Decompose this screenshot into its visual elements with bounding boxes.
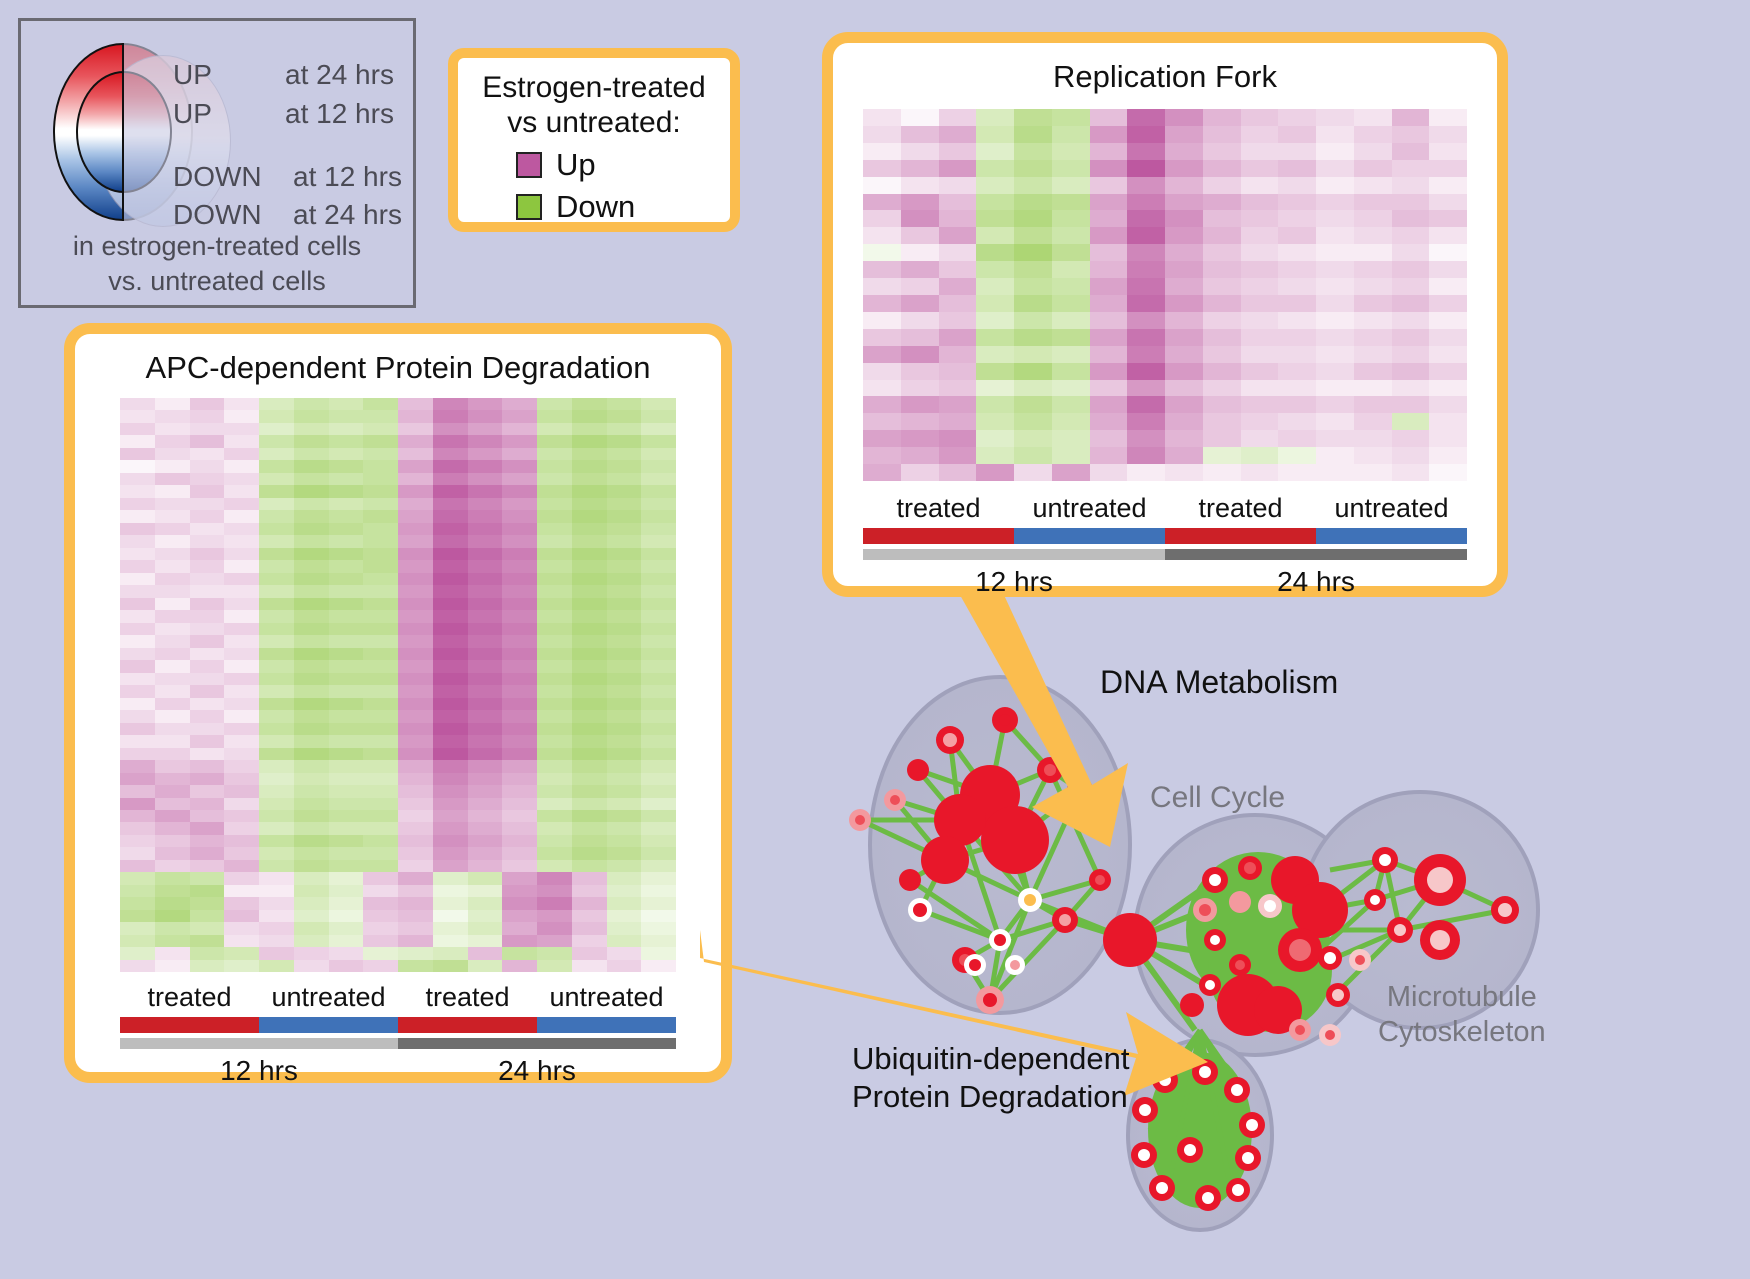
heatmap-cell: [294, 822, 329, 834]
heatmap-cell: [398, 760, 433, 772]
heatmap-cell: [901, 380, 939, 397]
heatmap-cell: [939, 109, 977, 126]
heatmap-row: [120, 523, 676, 535]
heatmap-cell: [190, 623, 225, 635]
heatmap-cell: [120, 510, 155, 522]
heatmap-cell: [468, 760, 503, 772]
heatmap-cell: [190, 510, 225, 522]
heatmap-row: [120, 648, 676, 660]
heatmap-cell: [155, 773, 190, 785]
heatmap-cell: [294, 510, 329, 522]
heatmap-cell: [329, 810, 364, 822]
heatmap-cell: [155, 835, 190, 847]
heatmap-cell: [433, 710, 468, 722]
heatmap-cell: [224, 935, 259, 947]
heatmap-cell: [224, 423, 259, 435]
legend-key-up: Up: [516, 147, 730, 183]
heatmap-row: [120, 635, 676, 647]
heatmap-cell: [259, 960, 294, 972]
time-bar-segment: [863, 549, 1165, 560]
heatmap-cell: [398, 448, 433, 460]
heatmap-cell: [363, 460, 398, 472]
heatmap-cell: [1392, 346, 1430, 363]
heatmap-cell: [863, 447, 901, 464]
heatmap-cell: [190, 635, 225, 647]
heatmap-cell: [294, 448, 329, 460]
heatmap-row: [120, 548, 676, 560]
heatmap-cell: [572, 585, 607, 597]
heatmap-cell: [1429, 244, 1467, 261]
heatmap-cell: [398, 673, 433, 685]
heatmap-row: [120, 423, 676, 435]
heatmap-cell: [572, 698, 607, 710]
heatmap-cell: [329, 685, 364, 697]
heatmap-cell: [329, 922, 364, 934]
heatmap-cell: [1165, 346, 1203, 363]
heatmap-cell: [1127, 227, 1165, 244]
heatmap-cell: [1429, 295, 1467, 312]
heatmap-cell: [572, 822, 607, 834]
heatmap-cell: [433, 485, 468, 497]
heatmap-cell: [1354, 396, 1392, 413]
heatmap-cell: [329, 573, 364, 585]
heatmap-cell: [939, 447, 977, 464]
heatmap-cell: [363, 435, 398, 447]
heatmap-cell: [468, 523, 503, 535]
heatmap-cell: [190, 810, 225, 822]
heatmap-cell: [259, 460, 294, 472]
heatmap-cell: [607, 810, 642, 822]
heatmap-cell: [468, 835, 503, 847]
heatmap-cell: [1014, 346, 1052, 363]
heatmap-cell: [537, 398, 572, 410]
ring-legend-dir-1: UP: [173, 98, 212, 130]
heatmap-cell: [363, 485, 398, 497]
heatmap-cell: [190, 760, 225, 772]
heatmap-cell: [641, 810, 676, 822]
heatmap-cell: [259, 660, 294, 672]
heatmap-cell: [1392, 261, 1430, 278]
heatmap-cell: [1354, 380, 1392, 397]
heatmap-cell: [1241, 126, 1279, 143]
heatmap-cell: [976, 329, 1014, 346]
heatmap-cell: [641, 398, 676, 410]
heatmap-cell: [641, 822, 676, 834]
heatmap-cell: [537, 822, 572, 834]
heatmap-cell: [976, 261, 1014, 278]
heatmap-cell: [294, 748, 329, 760]
heatmap-cell: [537, 648, 572, 660]
heatmap-cell: [537, 897, 572, 909]
heatmap-cell: [502, 872, 537, 884]
heatmap-cell: [502, 448, 537, 460]
heatmap-cell: [572, 410, 607, 422]
heatmap-cell: [433, 598, 468, 610]
heatmap-cell: [1127, 261, 1165, 278]
heatmap-cell: [607, 598, 642, 610]
heatmap-row: [120, 610, 676, 622]
heatmap-cell: [155, 535, 190, 547]
heatmap-row: [120, 535, 676, 547]
heatmap-cell: [1278, 464, 1316, 481]
heatmap-cell: [1392, 396, 1430, 413]
heatmap-cell: [363, 510, 398, 522]
heatmap-row: [863, 227, 1467, 244]
heatmap-cell: [120, 897, 155, 909]
heatmap-cell: [1165, 126, 1203, 143]
heatmap-cell: [1354, 329, 1392, 346]
heatmap-cell: [1392, 447, 1430, 464]
heatmap-cell: [468, 735, 503, 747]
heatmap-row: [120, 835, 676, 847]
estrogen-legend-card: Estrogen-treated vs untreated: Up Down: [448, 48, 740, 232]
heatmap-cell: [224, 748, 259, 760]
heatmap-cell: [607, 648, 642, 660]
heatmap-cell: [502, 935, 537, 947]
heatmap-cell: [537, 585, 572, 597]
heatmap-cell: [1203, 430, 1241, 447]
heatmap-cell: [502, 947, 537, 959]
heatmap-cell: [607, 860, 642, 872]
heatmap-row: [120, 735, 676, 747]
heatmap-cell: [363, 748, 398, 760]
heatmap-cell: [939, 380, 977, 397]
heatmap-cell: [607, 822, 642, 834]
condition-label: treated: [398, 982, 537, 1013]
heatmap-cell: [1127, 447, 1165, 464]
heatmap-cell: [572, 598, 607, 610]
heatmap-cell: [155, 660, 190, 672]
heatmap-cell: [1090, 143, 1128, 160]
heatmap-cell: [398, 872, 433, 884]
heatmap-row: [120, 947, 676, 959]
heatmap-cell: [120, 485, 155, 497]
heatmap-cell: [1354, 126, 1392, 143]
heatmap-cell: [1127, 346, 1165, 363]
heatmap-cell: [1241, 278, 1279, 295]
estrogen-legend-title-line1: Estrogen-treated: [458, 70, 730, 105]
heatmap-cell: [572, 922, 607, 934]
heatmap-cell: [1429, 194, 1467, 211]
heatmap-cell: [259, 560, 294, 572]
heatmap-cell: [607, 460, 642, 472]
heatmap-cell: [224, 535, 259, 547]
heatmap-cell: [537, 723, 572, 735]
heatmap-cell: [502, 773, 537, 785]
heatmap-cell: [224, 598, 259, 610]
heatmap-cell: [863, 143, 901, 160]
heatmap-cell: [294, 710, 329, 722]
heatmap-cell: [1429, 329, 1467, 346]
heatmap-cell: [537, 523, 572, 535]
heatmap-cell: [502, 635, 537, 647]
heatmap-cell: [190, 735, 225, 747]
heatmap-cell: [572, 648, 607, 660]
heatmap-cell: [1165, 312, 1203, 329]
heatmap-cell: [939, 413, 977, 430]
heatmap-cell: [224, 822, 259, 834]
heatmap-cell: [1278, 430, 1316, 447]
heatmap-cell: [363, 960, 398, 972]
heatmap-row: [120, 860, 676, 872]
heatmap-cell: [224, 835, 259, 847]
heatmap-cell: [1127, 109, 1165, 126]
heatmap-cell: [294, 698, 329, 710]
heatmap-cell: [502, 673, 537, 685]
heatmap-cell: [537, 635, 572, 647]
heatmap-cell: [120, 673, 155, 685]
heatmap-cell: [572, 910, 607, 922]
heatmap-row: [863, 430, 1467, 447]
heatmap-cell: [398, 922, 433, 934]
heatmap-cell: [641, 685, 676, 697]
condition-bar-segment: [537, 1017, 676, 1033]
heatmap-cell: [502, 585, 537, 597]
heatmap-cell: [224, 460, 259, 472]
heatmap-cell: [863, 109, 901, 126]
heatmap-cell: [433, 473, 468, 485]
heatmap-cell: [1014, 177, 1052, 194]
heatmap-cell: [537, 573, 572, 585]
heatmap-cell: [863, 413, 901, 430]
heatmap-cell: [1278, 413, 1316, 430]
down-color-swatch: [516, 194, 542, 220]
heatmap-cell: [398, 822, 433, 834]
heatmap-cell: [1090, 430, 1128, 447]
heatmap-cell: [641, 785, 676, 797]
heatmap-cell: [468, 648, 503, 660]
heatmap-cell: [120, 560, 155, 572]
heatmap-cell: [1278, 244, 1316, 261]
heatmap-cell: [939, 346, 977, 363]
heatmap-cell: [1090, 329, 1128, 346]
condition-label: treated: [120, 982, 259, 1013]
heatmap-cell: [398, 535, 433, 547]
condition-bar-segment: [1014, 528, 1165, 544]
heatmap-cell: [1392, 295, 1430, 312]
heatmap-cell: [224, 573, 259, 585]
heatmap-cell: [329, 623, 364, 635]
heatmap-cell: [572, 573, 607, 585]
heatmap-cell: [329, 885, 364, 897]
heatmap-cell: [502, 460, 537, 472]
heatmap-cell: [1090, 363, 1128, 380]
heatmap-cell: [398, 885, 433, 897]
heatmap-cell: [607, 710, 642, 722]
heatmap-cell: [607, 773, 642, 785]
up-label: Up: [556, 147, 596, 183]
heatmap-cell: [1392, 363, 1430, 380]
heatmap-cell: [572, 635, 607, 647]
heatmap-cell: [433, 448, 468, 460]
heatmap-cell: [363, 660, 398, 672]
heatmap-cell: [1241, 312, 1279, 329]
heatmap-cell: [224, 698, 259, 710]
heatmap-cell: [1354, 363, 1392, 380]
heatmap-cell: [901, 447, 939, 464]
heatmap-cell: [294, 660, 329, 672]
label-microtubule-line2: Cytoskeleton: [1378, 1015, 1546, 1050]
heatmap-cell: [939, 430, 977, 447]
heatmap-cell: [433, 835, 468, 847]
heatmap-cell: [329, 785, 364, 797]
heatmap-cell: [190, 785, 225, 797]
condition-labels-replication-fork: treateduntreatedtreateduntreated: [863, 493, 1467, 524]
heatmap-row: [863, 447, 1467, 464]
heatmap-cell: [641, 473, 676, 485]
heatmap-cell: [1127, 278, 1165, 295]
heatmap-cell: [433, 685, 468, 697]
heatmap-cell: [502, 847, 537, 859]
heatmap-cell: [1203, 194, 1241, 211]
heatmap-cell: [155, 760, 190, 772]
heatmap-cell: [1354, 447, 1392, 464]
heatmap-cell: [329, 398, 364, 410]
heatmap-cell: [901, 295, 939, 312]
heatmap-cell: [939, 464, 977, 481]
heatmap-cell: [363, 710, 398, 722]
heatmap-cell: [120, 860, 155, 872]
heatmap-cell: [155, 498, 190, 510]
heatmap-cell: [224, 723, 259, 735]
heatmap-cell: [607, 435, 642, 447]
heatmap-cell: [363, 723, 398, 735]
heatmap-cell: [1278, 109, 1316, 126]
heatmap-cell: [641, 947, 676, 959]
heatmap-cell: [641, 835, 676, 847]
heatmap-cell: [1165, 177, 1203, 194]
heatmap-cell: [155, 935, 190, 947]
heatmap-cell: [1203, 396, 1241, 413]
heatmap-cell: [607, 960, 642, 972]
heatmap-cell: [572, 872, 607, 884]
heatmap-row: [120, 847, 676, 859]
heatmap-cell: [120, 635, 155, 647]
heatmap-cell: [1203, 346, 1241, 363]
heatmap-cell: [1090, 109, 1128, 126]
heatmap-cell: [120, 910, 155, 922]
heatmap-cell: [572, 735, 607, 747]
heatmap-cell: [537, 760, 572, 772]
heatmap-row: [863, 278, 1467, 295]
heatmap-cell: [502, 748, 537, 760]
condition-label: untreated: [259, 982, 398, 1013]
heatmap-cell: [502, 760, 537, 772]
heatmap-cell: [259, 485, 294, 497]
heatmap-row: [863, 109, 1467, 126]
heatmap-cell: [1203, 329, 1241, 346]
heatmap-cell: [1052, 396, 1090, 413]
heatmap-cell: [294, 623, 329, 635]
heatmap-cell: [1316, 312, 1354, 329]
heatmap-cell: [641, 448, 676, 460]
heatmap-cell: [329, 835, 364, 847]
heatmap-cell: [502, 548, 537, 560]
heatmap-cell: [607, 847, 642, 859]
heatmap-cell: [1354, 227, 1392, 244]
heatmap-cell: [572, 448, 607, 460]
heatmap-cell: [329, 498, 364, 510]
heatmap-cell: [502, 648, 537, 660]
heatmap-cell: [976, 413, 1014, 430]
heatmap-cell: [224, 735, 259, 747]
heatmap-cell: [537, 473, 572, 485]
heatmap-cell: [641, 798, 676, 810]
heatmap-cell: [572, 435, 607, 447]
heatmap-cell: [1429, 210, 1467, 227]
heatmap-cell: [863, 227, 901, 244]
heatmap-cell: [468, 798, 503, 810]
heatmap-cell: [433, 847, 468, 859]
heatmap-cell: [398, 598, 433, 610]
heatmap-cell: [398, 435, 433, 447]
heatmap-cell: [120, 398, 155, 410]
heatmap-cell: [190, 673, 225, 685]
heatmap-cell: [1052, 464, 1090, 481]
heatmap-cell: [641, 635, 676, 647]
heatmap-cell: [572, 673, 607, 685]
label-ubiquitin-degradation: Ubiquitin-dependent Protein Degradation: [852, 1040, 1130, 1116]
heatmap-cell: [901, 244, 939, 261]
heatmap-row: [120, 810, 676, 822]
heatmap-cell: [939, 126, 977, 143]
ring-legend-dir-0: UP: [173, 59, 212, 91]
heatmap-cell: [329, 947, 364, 959]
heatmap-cell: [120, 835, 155, 847]
heatmap-cell: [294, 560, 329, 572]
heatmap-cell: [398, 560, 433, 572]
heatmap-cell: [294, 648, 329, 660]
ring-legend-caption-line2: vs. untreated cells: [21, 264, 413, 299]
heatmap-cell: [1354, 312, 1392, 329]
heatmap-cell: [572, 798, 607, 810]
heatmap-cell: [572, 660, 607, 672]
heatmap-cell: [294, 685, 329, 697]
heatmap-row: [863, 210, 1467, 227]
heatmap-cell: [1316, 464, 1354, 481]
heatmap-cell: [572, 548, 607, 560]
heatmap-cell: [939, 329, 977, 346]
heatmap-cell: [1203, 295, 1241, 312]
heatmap-cell: [155, 485, 190, 497]
heatmap-cell: [641, 847, 676, 859]
heatmap-cell: [433, 573, 468, 585]
heatmap-cell: [259, 798, 294, 810]
heatmap-cell: [537, 598, 572, 610]
heatmap-cell: [363, 398, 398, 410]
heatmap-cell: [468, 673, 503, 685]
heatmap-cell: [607, 535, 642, 547]
heatmap-cell: [329, 610, 364, 622]
heatmap-cell: [259, 710, 294, 722]
heatmap-cell: [1165, 160, 1203, 177]
heatmap-cell: [259, 610, 294, 622]
heatmap-cell: [976, 430, 1014, 447]
heatmap-cell: [641, 535, 676, 547]
heatmap-cell: [901, 177, 939, 194]
heatmap-cell: [1052, 160, 1090, 177]
label-cell-cycle: Cell Cycle: [1150, 781, 1285, 815]
heatmap-cell: [1203, 413, 1241, 430]
heatmap-cell: [433, 910, 468, 922]
label-ubiquitin-line1: Ubiquitin-dependent: [852, 1040, 1130, 1078]
heatmap-cell: [1014, 295, 1052, 312]
heatmap-cell: [572, 847, 607, 859]
heatmap-cell: [1392, 160, 1430, 177]
heatmap-cell: [1316, 210, 1354, 227]
heatmap-cell: [294, 760, 329, 772]
heatmap-cell: [607, 573, 642, 585]
